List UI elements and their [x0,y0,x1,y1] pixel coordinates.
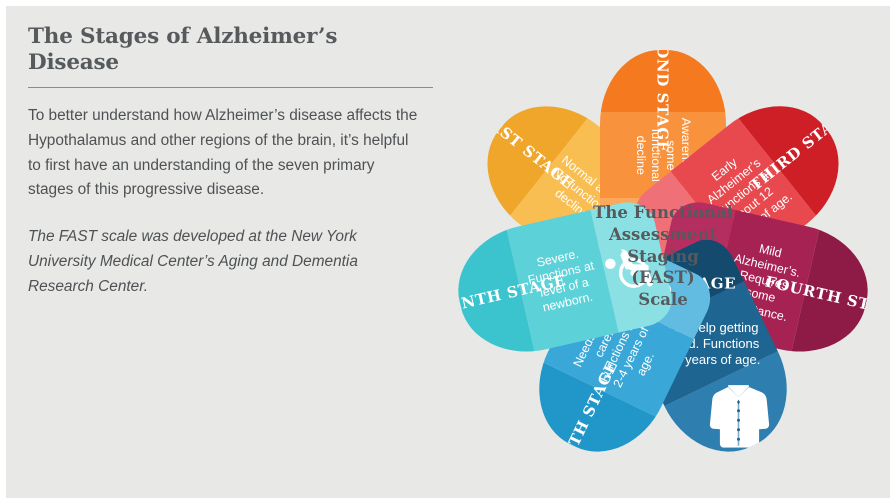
intro-column: The Stages of Alzheimer’s Disease To bet… [28,24,418,300]
wheelchair-icon [600,241,662,289]
fast-scale-wheel: FIRST STAGENormal adult. No functional d… [424,14,896,502]
intro-paragraph-2: The FAST scale was developed at the New … [28,225,418,300]
stage-title-band: SECOND STAGE [600,50,726,112]
page-title: The Stages of Alzheimer’s Disease [28,24,418,76]
shirt-icon [700,382,776,448]
stage-description: Severe. Functions at level of a newborn. [518,243,608,319]
infographic-page: The Stages of Alzheimer’s Disease To bet… [0,0,896,504]
title-divider [28,87,433,88]
intro-paragraph-1: To better understand how Alzheimer’s dis… [28,104,418,204]
